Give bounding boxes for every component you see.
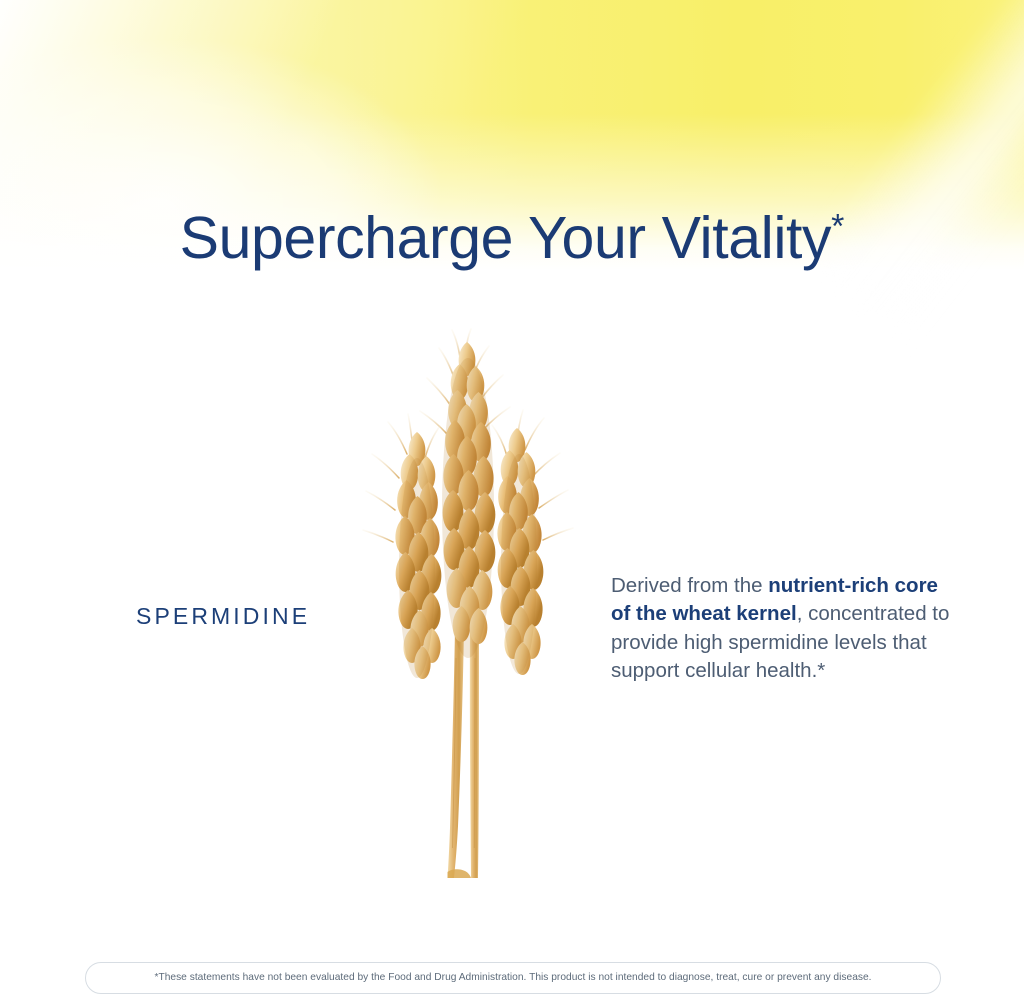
- fda-disclaimer-pill: *These statements have not been evaluate…: [85, 962, 941, 994]
- wheat-stems: [448, 628, 480, 878]
- description-lead: Derived from the: [611, 574, 768, 597]
- wheat-shading: [399, 358, 537, 678]
- fda-disclaimer-text: *These statements have not been evaluate…: [154, 973, 871, 983]
- ingredient-name-label: SPERMIDINE: [136, 603, 310, 630]
- ingredient-description: Derived from the nutrient-rich core of t…: [611, 572, 951, 686]
- hero-light-streak: [802, 0, 1024, 345]
- headline-asterisk: *: [831, 207, 844, 245]
- wheat-stalks-illustration: [355, 328, 585, 880]
- headline-text: Supercharge Your Vitality: [180, 205, 831, 271]
- page-headline: Supercharge Your Vitality*: [0, 208, 1024, 270]
